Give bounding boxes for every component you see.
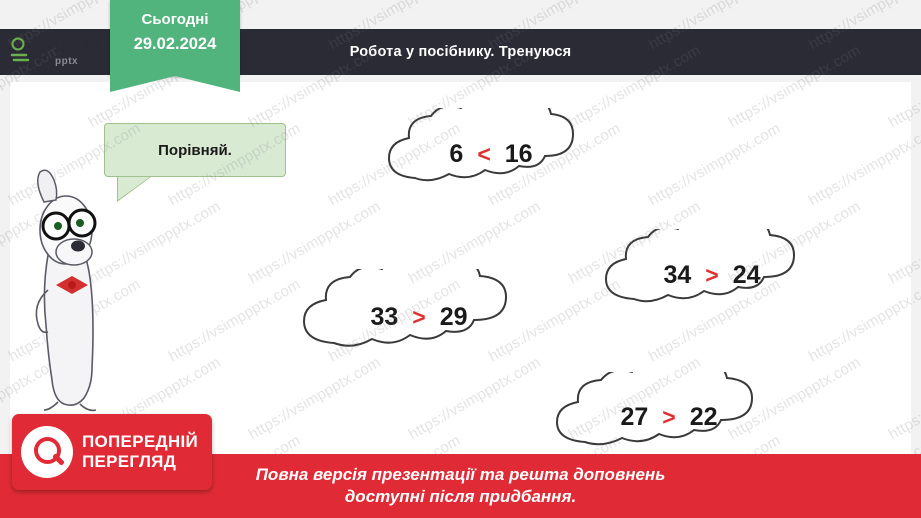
cloud-expression-1: 6 < 16 [377, 108, 605, 200]
instruction-bubble: Порівняй. [104, 123, 286, 177]
magnifier-icon [21, 426, 73, 478]
instruction-text: Порівняй. [158, 142, 232, 159]
cloud-expression-2: 34 > 24 [594, 229, 830, 321]
cloud-expression-4: 27 > 22 [545, 372, 793, 462]
cloud-2-right-number: 24 [733, 261, 761, 290]
graduation-cap-icon [10, 35, 50, 70]
cloud-3-operator: > [412, 304, 425, 331]
banner-line-1: Повна версія презентації та решта доповн… [256, 464, 666, 486]
date-badge-date: 29.02.2024 [110, 35, 240, 54]
date-badge-label: Сьогодні [110, 11, 240, 28]
cloud-1-left-number: 6 [449, 140, 463, 169]
cloud-4-operator: > [662, 404, 675, 431]
dog-mascot-illustration [18, 160, 128, 420]
cloud-expression-3: 33 > 29 [292, 269, 546, 365]
logo-text: ВСІМ [55, 38, 101, 57]
cloud-1-right-number: 16 [505, 140, 533, 169]
cloud-2-operator: > [705, 262, 718, 289]
preview-badge-line-2: ПЕРЕГЛЯД [82, 452, 198, 472]
preview-badge[interactable]: ПОПЕРЕДНІЙ ПЕРЕГЛЯД [12, 414, 212, 490]
cloud-3-right-number: 29 [440, 303, 468, 332]
cloud-2-left-number: 34 [663, 261, 691, 290]
slide-canvas: Робота у посібнику. Тренуюся ВСІМ pptx С… [0, 0, 921, 518]
banner-line-2: доступні після придбання. [345, 486, 576, 508]
cloud-4-left-number: 27 [620, 403, 648, 432]
date-badge: Сьогодні 29.02.2024 [110, 0, 240, 76]
preview-badge-line-1: ПОПЕРЕДНІЙ [82, 432, 198, 452]
cloud-1-operator: < [477, 141, 490, 168]
logo-subtext: pptx [55, 57, 101, 67]
cloud-3-left-number: 33 [370, 303, 398, 332]
cloud-4-right-number: 22 [690, 403, 718, 432]
